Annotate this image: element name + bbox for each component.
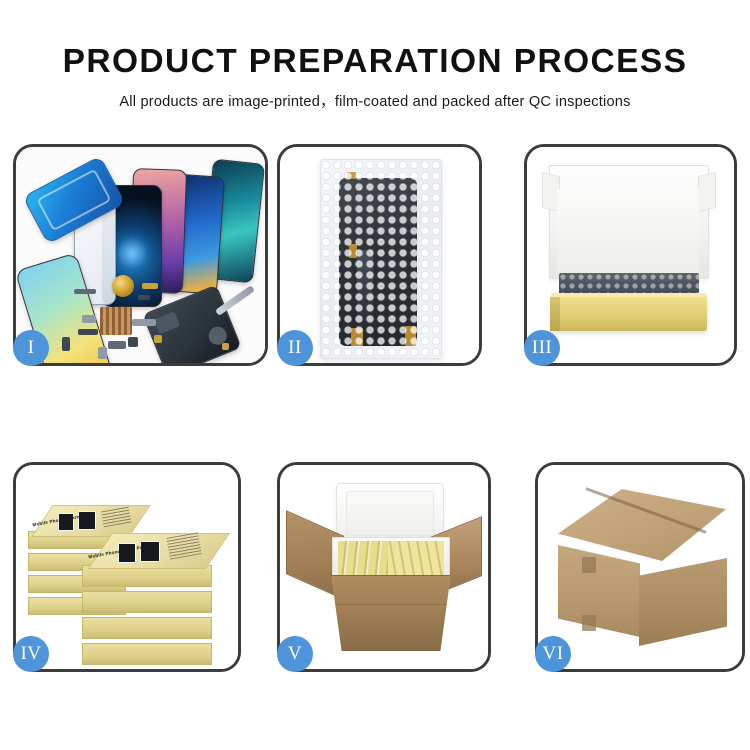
gold-tab-bottom-left xyxy=(351,328,363,346)
part-flex-cable xyxy=(78,329,98,335)
step-badge-6: VI xyxy=(535,636,571,672)
page-subtitle: All products are image-printed，film-coat… xyxy=(0,79,750,111)
carton-left-face xyxy=(558,545,640,637)
copper-coil-part xyxy=(112,275,134,297)
part-shield-can xyxy=(132,319,156,326)
process-steps-grid: I II xyxy=(0,137,750,685)
gold-tab-top xyxy=(347,172,356,179)
gold-tab-mid xyxy=(349,244,357,258)
step-3-image xyxy=(527,147,734,363)
step-2-image xyxy=(280,147,479,363)
step-5-image xyxy=(280,465,488,669)
stack-box-fr-4 xyxy=(82,643,212,665)
step-badge-5: V xyxy=(277,636,313,672)
carton-right-face xyxy=(639,558,727,646)
sealed-carton-icon xyxy=(538,465,742,669)
bubble-wrap-bag xyxy=(320,159,442,359)
part-screw-2 xyxy=(222,343,229,350)
step-panel-5[interactable]: V xyxy=(277,462,491,672)
product-preparation-process-page: PRODUCT PREPARATION PROCESS All products… xyxy=(0,0,750,750)
step-badge-4: IV xyxy=(13,636,49,672)
step-panel-6[interactable]: VI xyxy=(535,462,745,672)
page-title: PRODUCT PREPARATION PROCESS xyxy=(0,0,750,79)
phone-parts-icon xyxy=(16,147,265,363)
step-6-image xyxy=(538,465,742,669)
step-panel-2[interactable]: II xyxy=(277,144,482,366)
step-badge-2: II xyxy=(277,330,313,366)
box-body-yellow xyxy=(551,297,707,331)
step-badge-1: I xyxy=(13,330,49,366)
step-1-image xyxy=(16,147,265,363)
carton-top-face xyxy=(558,489,726,561)
packed-yellow-boxes-2 xyxy=(388,541,444,577)
chip-array-part xyxy=(100,307,132,335)
part-button-set xyxy=(108,341,126,349)
part-sim-tray xyxy=(98,347,107,359)
stack-box-fr-2 xyxy=(82,591,212,613)
part-connector-2 xyxy=(138,295,150,300)
part-camera-module xyxy=(128,337,138,347)
page-header: PRODUCT PREPARATION PROCESS All products… xyxy=(0,0,750,111)
carton-body xyxy=(326,575,456,651)
part-connector-1 xyxy=(74,289,96,294)
step-panel-3[interactable]: III xyxy=(524,144,737,366)
part-gold-pad xyxy=(142,283,158,289)
part-speaker xyxy=(62,337,70,351)
bubble-wrap-icon xyxy=(280,147,479,363)
stack-box-fr-3 xyxy=(82,617,212,639)
step-panel-1[interactable]: I xyxy=(13,144,268,366)
carton-tape-upper xyxy=(582,557,596,573)
foam-carton-icon xyxy=(280,465,488,669)
carton-tape-lower xyxy=(582,615,596,631)
open-box-icon xyxy=(527,147,734,363)
part-bracket-1 xyxy=(82,315,96,323)
box-stack: Mobile Phone Spare Parts Mobile Phone Sp… xyxy=(26,479,234,665)
step-badge-3: III xyxy=(524,330,560,366)
gold-tab-bottom-right xyxy=(405,326,416,346)
step-panel-4[interactable]: Mobile Phone Spare Parts Mobile Phone Sp… xyxy=(13,462,241,672)
foam-sheet xyxy=(557,189,699,275)
part-screw-1 xyxy=(154,335,162,343)
step-4-image: Mobile Phone Spare Parts Mobile Phone Sp… xyxy=(16,465,238,669)
lcd-screen-inside xyxy=(339,178,417,346)
stacked-boxes-icon: Mobile Phone Spare Parts Mobile Phone Sp… xyxy=(16,465,238,669)
